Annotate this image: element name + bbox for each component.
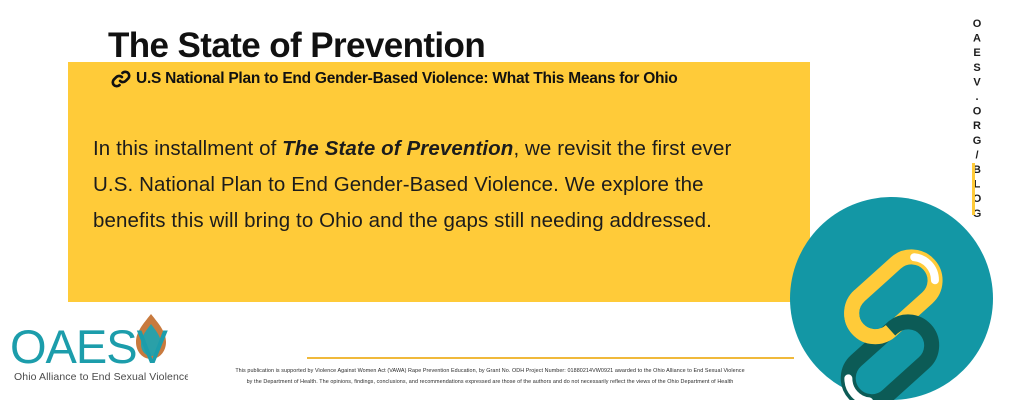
oaesv-logo-graphic: OAESV Ohio Alliance to End Sexual Violen…: [8, 310, 188, 390]
logo-wordmark: OAESV: [10, 320, 169, 373]
funding-disclaimer: This publication is supported by Violenc…: [175, 366, 805, 388]
logo-tagline: Ohio Alliance to End Sexual Violence: [14, 371, 188, 383]
footer-divider: [307, 357, 794, 359]
subtitle-label: U.S National Plan to End Gender-Based Vi…: [136, 71, 678, 87]
chain-link-badge: [790, 197, 993, 400]
page-title: The State of Prevention: [108, 28, 485, 63]
disclaimer-line-2: by the Department of Health. The opinion…: [175, 377, 805, 388]
body-paragraph: In this installment of The State of Prev…: [93, 131, 753, 239]
body-lead: In this installment of: [93, 137, 282, 160]
body-emphasis: The State of Prevention: [282, 137, 513, 160]
site-url-vertical-label: OAESV.ORG/BLOG: [957, 18, 983, 222]
subtitle-row: U.S National Plan to End Gender-Based Vi…: [110, 68, 678, 90]
poster-canvas: The State of Prevention U.S National Pla…: [0, 0, 1020, 400]
disclaimer-line-1: This publication is supported by Violenc…: [175, 366, 805, 377]
oaesv-logo: OAESV Ohio Alliance to End Sexual Violen…: [8, 310, 188, 390]
link-chain-icon: [110, 68, 132, 90]
chain-link-icon: [790, 197, 993, 400]
